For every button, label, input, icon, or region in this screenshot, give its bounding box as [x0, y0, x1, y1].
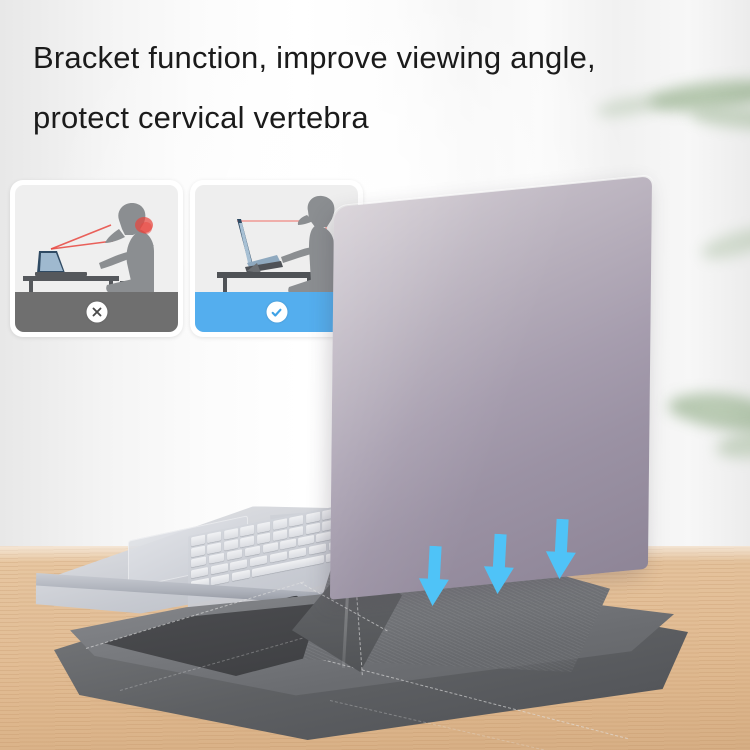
page-title: Bracket function, improve viewing angle,…: [33, 28, 723, 149]
check-icon: [266, 302, 287, 323]
posture-comparison: [10, 180, 363, 337]
verdict-bar-incorrect: [15, 292, 178, 332]
arrow-down-icon: [415, 545, 452, 609]
panel-bad-posture: [10, 180, 183, 337]
product-feature-image: Bracket function, improve viewing angle,…: [0, 0, 750, 750]
cross-icon: [86, 302, 107, 323]
arrow-down-icon: [480, 533, 517, 597]
arrow-down-icon: [542, 518, 579, 582]
